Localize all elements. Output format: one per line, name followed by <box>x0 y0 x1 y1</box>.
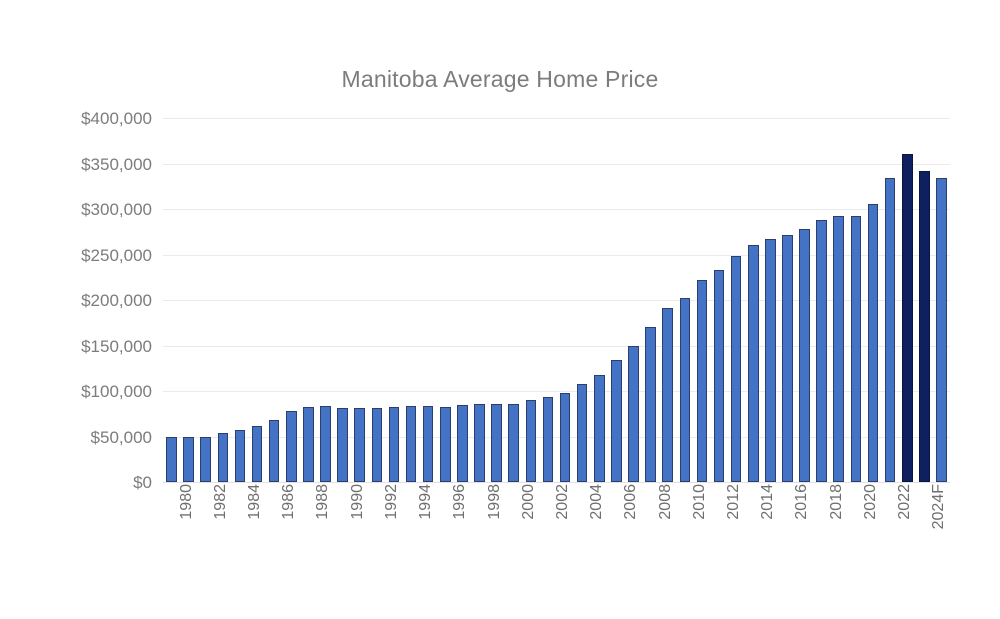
x-axis-tick-label: 2016 <box>794 484 810 520</box>
x-axis-tick-label: 2008 <box>658 484 674 520</box>
bar[interactable] <box>474 404 485 482</box>
bar[interactable] <box>269 420 280 482</box>
x-axis-tick-label: 2022 <box>897 484 913 520</box>
y-axis-tick-label: $400,000 <box>32 110 152 127</box>
bar[interactable] <box>218 433 229 482</box>
x-axis-tick-label: 1998 <box>487 484 503 520</box>
bar[interactable] <box>526 400 537 482</box>
bar[interactable] <box>491 404 502 482</box>
bar[interactable] <box>457 405 468 482</box>
bar[interactable] <box>594 375 605 482</box>
x-axis-tick-label: 2002 <box>555 484 571 520</box>
bar[interactable] <box>183 437 194 483</box>
y-axis-tick-label: $200,000 <box>32 292 152 309</box>
bar[interactable] <box>303 407 314 482</box>
bar[interactable] <box>868 204 879 482</box>
bar[interactable] <box>286 411 297 482</box>
bar[interactable] <box>252 426 263 482</box>
y-axis: $400,000$350,000$300,000$250,000$200,000… <box>22 118 152 482</box>
bar[interactable] <box>833 216 844 482</box>
x-axis-tick-label: 1980 <box>179 484 195 520</box>
x-axis-tick-label: 1990 <box>350 484 366 520</box>
bar[interactable] <box>560 393 571 482</box>
bar[interactable] <box>354 408 365 482</box>
x-axis-tick-label: 1994 <box>418 484 434 520</box>
chart-title: Manitoba Average Home Price <box>0 66 1000 93</box>
chart-container: Manitoba Average Home Price $400,000$350… <box>0 0 1000 619</box>
x-axis-tick-label: 2024F <box>931 484 947 529</box>
bar[interactable] <box>936 178 947 482</box>
bar[interactable] <box>748 245 759 483</box>
bar[interactable] <box>885 178 896 482</box>
bar[interactable] <box>577 384 588 482</box>
bar[interactable] <box>423 406 434 482</box>
x-axis-tick-label: 2020 <box>863 484 879 520</box>
bar[interactable] <box>851 216 862 482</box>
bar[interactable] <box>320 406 331 482</box>
bar[interactable] <box>662 308 673 482</box>
bar[interactable] <box>406 406 417 482</box>
bar[interactable] <box>389 407 400 482</box>
x-axis-tick-label: 1988 <box>315 484 331 520</box>
bar[interactable] <box>697 280 708 482</box>
bar[interactable] <box>816 220 827 482</box>
bar[interactable] <box>166 437 177 482</box>
x-axis: 1980198219841986198819901992199419961998… <box>163 484 950 574</box>
x-axis-tick-label: 2012 <box>726 484 742 520</box>
x-axis-tick-label: 2014 <box>760 484 776 520</box>
bar[interactable] <box>799 229 810 482</box>
bar[interactable] <box>372 408 383 482</box>
bar[interactable] <box>508 404 519 482</box>
bar[interactable] <box>782 235 793 482</box>
x-axis-tick-label: 1992 <box>384 484 400 520</box>
y-axis-tick-label: $250,000 <box>32 247 152 264</box>
y-axis-tick-label: $0 <box>32 474 152 491</box>
bar[interactable] <box>543 397 554 482</box>
x-axis-tick-label: 1984 <box>247 484 263 520</box>
bar[interactable] <box>440 407 451 482</box>
bar[interactable] <box>680 298 691 482</box>
x-axis-tick-label: 2004 <box>589 484 605 520</box>
bar[interactable] <box>902 154 913 482</box>
x-axis-tick-label: 1986 <box>281 484 297 520</box>
bar[interactable] <box>765 239 776 482</box>
y-axis-tick-label: $100,000 <box>32 383 152 400</box>
y-axis-tick-label: $350,000 <box>32 156 152 173</box>
bar[interactable] <box>200 437 211 483</box>
bar[interactable] <box>645 327 656 482</box>
bar[interactable] <box>731 256 742 482</box>
bar[interactable] <box>235 430 246 482</box>
x-axis-tick-label: 2010 <box>692 484 708 520</box>
y-axis-tick-label: $50,000 <box>32 429 152 446</box>
y-axis-tick-label: $300,000 <box>32 201 152 218</box>
bar[interactable] <box>714 270 725 482</box>
bar[interactable] <box>611 360 622 482</box>
x-axis-tick-label: 1996 <box>452 484 468 520</box>
x-axis-tick-label: 2006 <box>623 484 639 520</box>
x-axis-tick-label: 2018 <box>829 484 845 520</box>
x-axis-tick-label: 2000 <box>521 484 537 520</box>
y-axis-tick-label: $150,000 <box>32 338 152 355</box>
bar[interactable] <box>337 408 348 482</box>
plot-area <box>163 118 950 482</box>
bar[interactable] <box>628 346 639 483</box>
bar-series <box>163 118 950 482</box>
x-axis-tick-label: 1982 <box>213 484 229 520</box>
bar[interactable] <box>919 171 930 482</box>
